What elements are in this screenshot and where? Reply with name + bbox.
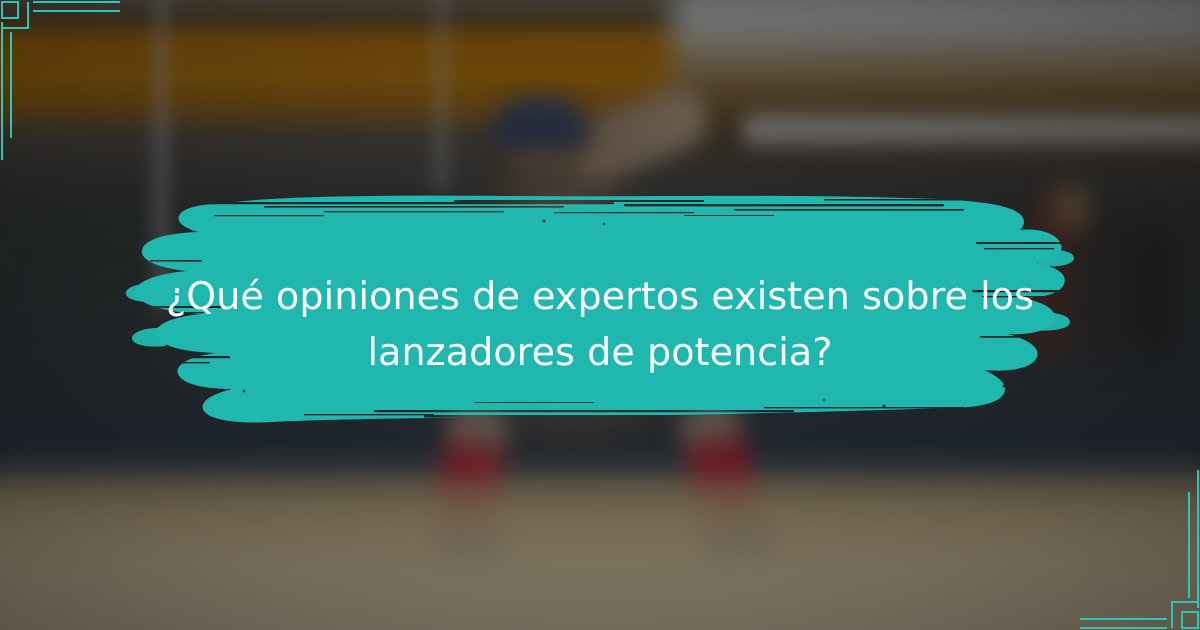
page-title: ¿Qué opiniones de expertos existen sobre… xyxy=(150,268,1050,380)
share-card-canvas: ¿Qué opiniones de expertos existen sobre… xyxy=(0,0,1200,630)
